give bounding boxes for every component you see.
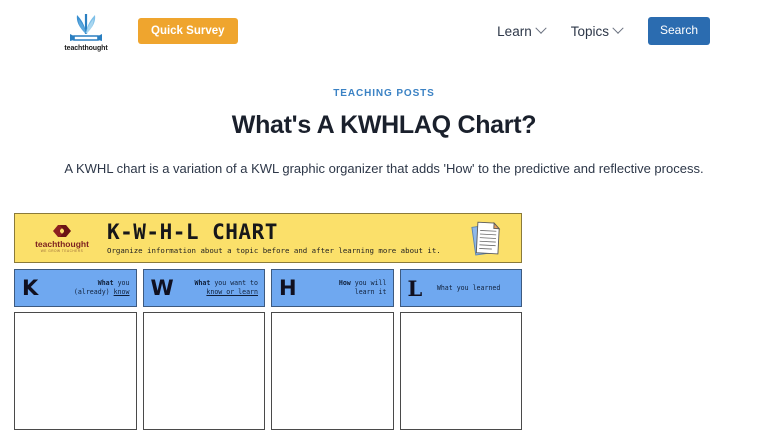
kwhl-column-h: H How you will learn it [271, 269, 394, 430]
kwhl-cell-w[interactable] [143, 312, 266, 430]
kwhl-banner-title: K-W-H-L CHART [107, 221, 461, 243]
kwhl-desc-k: What you (already) know [38, 279, 129, 297]
article-subtitle: A KWHL chart is a variation of a KWL gra… [0, 160, 768, 178]
teachthought-diamond-logo-icon [51, 223, 73, 239]
search-button[interactable]: Search [648, 17, 710, 44]
kwhl-logo-text: teachthought [35, 240, 89, 249]
kwhl-column-headers-row: K What you (already) know W What you wan… [14, 269, 522, 430]
kwhl-banner-subtitle: Organize information about a topic befor… [107, 247, 461, 255]
teachthought-diamond-logo: teachthought WE GROW TEACHERS [21, 223, 103, 253]
article-header: TEACHING POSTS What's A KWHLAQ Chart? A … [0, 62, 768, 178]
category-eyebrow[interactable]: TEACHING POSTS [0, 88, 768, 99]
kwhl-desc-k-underline: know [114, 288, 130, 296]
kwhl-desc-k-bold: What [98, 279, 114, 287]
stacked-documents-icon [461, 219, 513, 257]
nav-item-learn-label: Learn [497, 24, 532, 39]
kwhl-desc-w: What you want to know or learn [174, 279, 258, 297]
nav-item-learn[interactable]: Learn [497, 24, 545, 39]
kwhl-letter-h: H [279, 278, 297, 299]
kwhl-chart-graphic: teachthought WE GROW TEACHERS K-W-H-L CH… [14, 213, 522, 430]
kwhl-header-l: L What you learned [400, 269, 523, 307]
kwhl-desc-l-rest: What you learned [437, 284, 501, 292]
kwhl-desc-h-bold: How [339, 279, 351, 287]
kwhl-desc-w-rest: you want to [210, 279, 258, 287]
page-title: What's A KWHLAQ Chart? [0, 111, 768, 140]
kwhl-desc-h-line2: learn it [355, 288, 387, 296]
kwhl-desc-h-rest: you will [351, 279, 387, 287]
kwhl-header-k: K What you (already) know [14, 269, 137, 307]
kwhl-letter-l: L [408, 278, 423, 299]
kwhl-column-k: K What you (already) know [14, 269, 137, 430]
kwhl-desc-h: How you will learn it [297, 279, 387, 297]
kwhl-desc-l: What you learned [422, 284, 515, 293]
quick-survey-button[interactable]: Quick Survey [138, 18, 238, 45]
site-logo-text: teachthought [64, 45, 107, 52]
kwhl-desc-w-bold: What [194, 279, 210, 287]
kwhl-logo-tagline: WE GROW TEACHERS [41, 250, 83, 253]
kwhl-desc-k-line2: (already) [74, 288, 114, 296]
kwhl-banner-text: K-W-H-L CHART Organize information about… [103, 221, 461, 255]
site-header: teachthought Quick Survey Learn Topics S… [0, 0, 768, 62]
kwhl-column-w: W What you want to know or learn [143, 269, 266, 430]
chevron-down-icon [612, 23, 623, 34]
kwhl-letter-w: W [151, 278, 174, 299]
kwhl-desc-k-rest: you [114, 279, 130, 287]
kwhl-cell-h[interactable] [271, 312, 394, 430]
feather-banner-logo-icon [66, 12, 106, 44]
site-logo[interactable]: teachthought [58, 12, 114, 52]
kwhl-letter-k: K [22, 278, 38, 299]
kwhl-desc-w-underline: know or learn [206, 288, 258, 296]
kwhl-column-l: L What you learned [400, 269, 523, 430]
kwhl-banner: teachthought WE GROW TEACHERS K-W-H-L CH… [14, 213, 522, 263]
chevron-down-icon [535, 23, 546, 34]
main-nav: Learn Topics Search [497, 17, 710, 44]
nav-item-topics-label: Topics [571, 24, 609, 39]
kwhl-cell-l[interactable] [400, 312, 523, 430]
kwhl-cell-k[interactable] [14, 312, 137, 430]
kwhl-header-w: W What you want to know or learn [143, 269, 266, 307]
kwhl-header-h: H How you will learn it [271, 269, 394, 307]
nav-item-topics[interactable]: Topics [571, 24, 622, 39]
